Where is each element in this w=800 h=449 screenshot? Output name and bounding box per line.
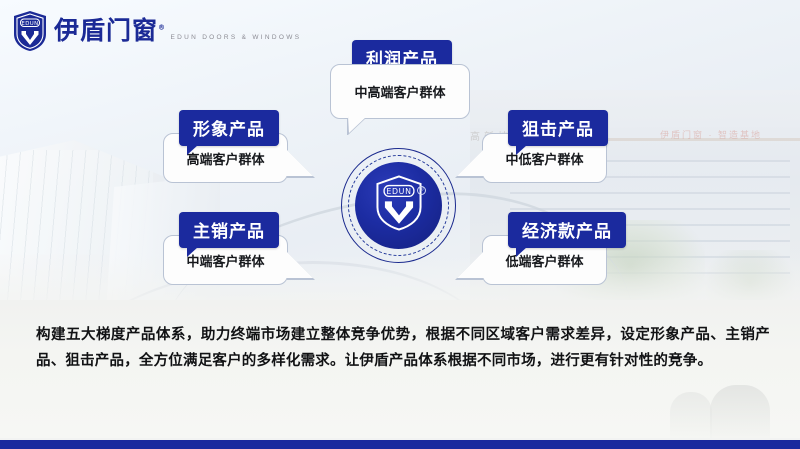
- callout-profit-subtitle: 中高端客户群体: [330, 64, 470, 119]
- callout-sniper-product[interactable]: 狙击产品 中低客户群体: [482, 110, 608, 183]
- svg-text:EDUN: EDUN: [21, 21, 38, 27]
- brand-text-block: 伊盾门窗® EDUN DOORS & WINDOWS: [54, 18, 301, 44]
- emblem-registered-mark-icon: ®: [417, 186, 426, 195]
- svg-text:EDUN: EDUN: [386, 187, 411, 196]
- callout-economy-title: 经济款产品: [508, 212, 626, 248]
- edun-shield-emblem-icon: EDUN: [373, 174, 425, 237]
- brand-name-cn: 伊盾门窗®: [54, 16, 166, 45]
- center-emblem: EDUN ®: [341, 148, 456, 263]
- callout-main-sales-product[interactable]: 主销产品 中端客户群体: [163, 212, 288, 285]
- callout-profit-product[interactable]: 利润产品 中高端客户群体: [330, 40, 470, 119]
- background-person-silhouette-right: [710, 385, 770, 438]
- background-signage-text-red: 伊盾门窗 · 智造基地: [660, 128, 780, 140]
- callout-economy-product[interactable]: 经济款产品 低端客户群体: [482, 212, 626, 285]
- brand-logo: EDUN 伊盾门窗® EDUN DOORS & WINDOWS: [12, 10, 301, 52]
- callout-sniper-title: 狙击产品: [508, 110, 608, 146]
- registered-mark-icon: ®: [158, 24, 166, 32]
- callout-main-sales-title: 主销产品: [179, 212, 279, 248]
- callout-image-product[interactable]: 形象产品 高端客户群体: [163, 110, 288, 183]
- edun-shield-logo-icon: EDUN: [12, 10, 48, 52]
- brand-name-en: EDUN DOORS & WINDOWS: [170, 34, 301, 41]
- background-person-silhouette-left: [670, 392, 712, 438]
- description-paragraph: 构建五大梯度产品体系，助力终端市场建立整体竞争优势，根据不同区域客户需求差异，设…: [36, 322, 770, 374]
- callout-image-title: 形象产品: [179, 110, 279, 146]
- emblem-disc: EDUN ®: [355, 162, 442, 249]
- footer-accent-bar: [0, 440, 800, 449]
